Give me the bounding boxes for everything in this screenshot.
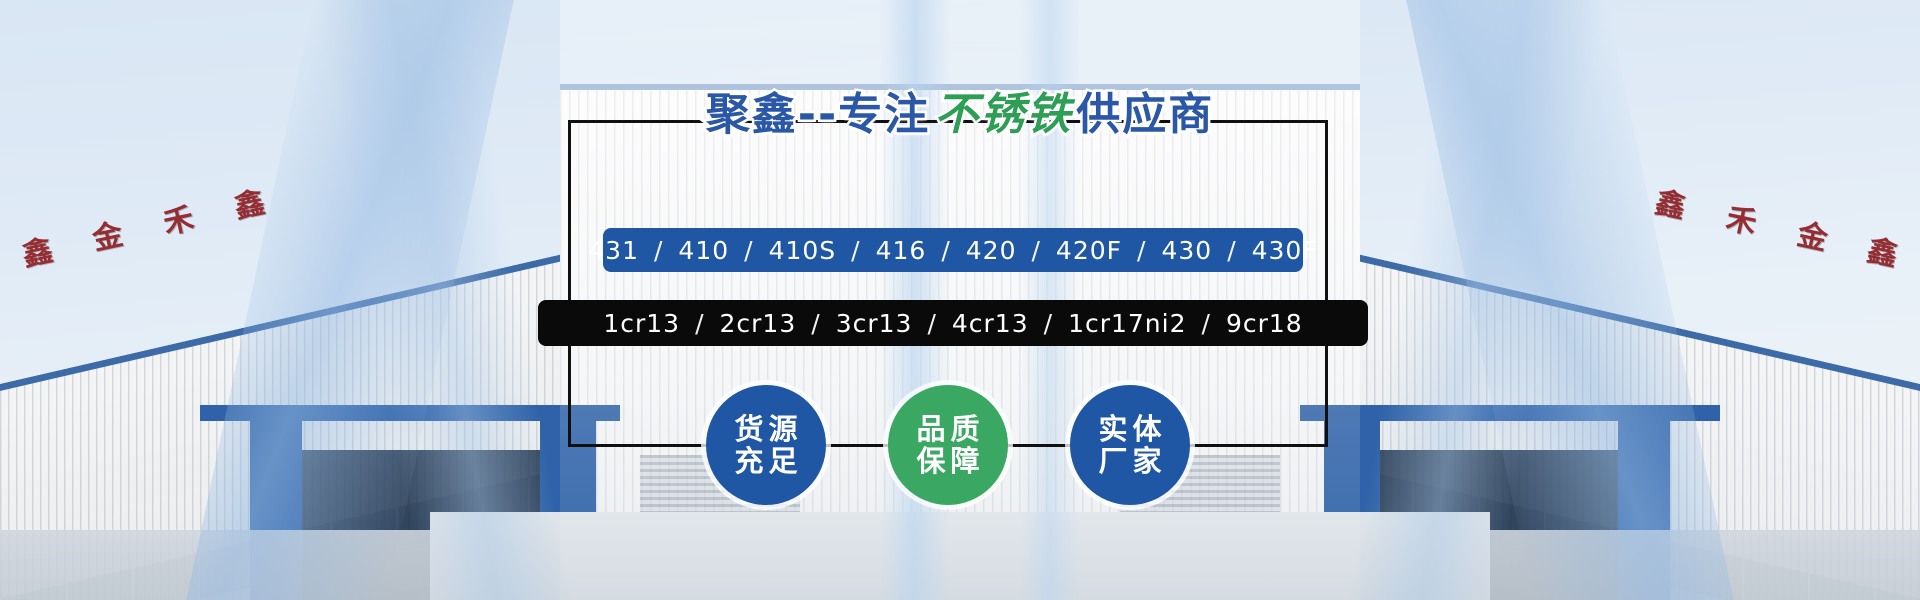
headline-highlight: 不锈铁 — [934, 89, 1072, 140]
grade-item: 420F — [1050, 236, 1128, 265]
grade-item: 416 — [870, 236, 933, 265]
grade-item: 430F — [1246, 236, 1324, 265]
grade-separator: / — [1218, 236, 1245, 265]
grade-separator: / — [802, 309, 829, 338]
grade-item: 420 — [960, 236, 1023, 265]
grade-separator: / — [1193, 309, 1220, 338]
headline-focus-text: 专注 — [838, 89, 930, 140]
badge-factory[interactable]: 实体 厂家 — [1070, 385, 1190, 505]
grade-separator: / — [932, 236, 959, 265]
grade-separator: / — [735, 236, 762, 265]
grade-separator: / — [1035, 309, 1062, 338]
headline-supplier-text: 供应商 — [1076, 89, 1214, 140]
grade-separator: / — [645, 236, 672, 265]
grade-item: 9cr18 — [1220, 309, 1309, 338]
grade-separator: / — [686, 309, 713, 338]
badge-quality[interactable]: 品质 保障 — [888, 385, 1008, 505]
grade-bar-primary: 431/410/410S/416/420/420F/430/430F — [603, 228, 1303, 272]
banner-headline: 聚鑫--专注不锈铁供应商 — [0, 78, 1920, 142]
badge-line-1: 货源 — [729, 413, 802, 445]
grade-bar-secondary: 1cr13/2cr13/3cr13/4cr13/1cr17ni2/9cr18 — [538, 300, 1368, 346]
grade-item: 1cr17ni2 — [1062, 309, 1192, 338]
badge-line-1: 实体 — [1093, 413, 1166, 445]
badge-line-2: 厂家 — [1093, 445, 1166, 477]
grade-item: 410S — [763, 236, 843, 265]
grade-separator: / — [842, 236, 869, 265]
grade-item: 1cr13 — [597, 309, 686, 338]
feature-badges: 货源 充足 品质 保障 实体 厂家 — [568, 380, 1328, 510]
grade-item: 4cr13 — [946, 309, 1035, 338]
grade-separator: / — [1128, 236, 1155, 265]
grade-item: 431 — [582, 236, 645, 265]
badge-line-2: 充足 — [729, 445, 802, 477]
badge-line-1: 品质 — [911, 413, 984, 445]
headline-brand: 聚鑫 — [706, 89, 798, 140]
grade-separator: / — [1022, 236, 1049, 265]
headline-dash: -- — [798, 89, 839, 140]
grade-item: 3cr13 — [830, 309, 919, 338]
promo-banner: 鑫 金 禾 鑫 鑫 金 禾 鑫 聚鑫--专注不锈铁供应商 431/410/410… — [0, 0, 1920, 600]
grade-item: 410 — [672, 236, 735, 265]
badge-supply[interactable]: 货源 充足 — [706, 385, 826, 505]
ground-plane-center — [430, 512, 1490, 600]
grade-separator: / — [918, 309, 945, 338]
grade-item: 430 — [1155, 236, 1218, 265]
badge-line-2: 保障 — [911, 445, 984, 477]
grade-item: 2cr13 — [714, 309, 803, 338]
